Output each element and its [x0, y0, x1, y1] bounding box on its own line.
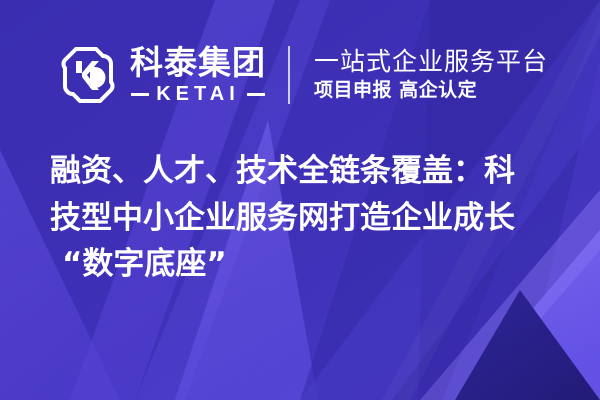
brand-name-cn: 科泰集团: [130, 46, 266, 79]
tagline-block: 一站式企业服务平台 项目申报 高企认定: [314, 48, 548, 103]
headline-line-3: “数字底座”: [50, 241, 566, 288]
tagline-secondary: 项目申报 高企认定: [314, 79, 548, 103]
header-vertical-divider: [288, 46, 290, 104]
banner-header: 科泰集团 KETAI 一站式企业服务平台 项目申报 高企认定: [56, 40, 548, 110]
headline-line-1: 融资、人才、技术全链条覆盖：科: [50, 148, 566, 195]
headline-line-2: 技型中小企业服务网打造企业成长: [50, 195, 566, 242]
tagline-primary: 一站式企业服务平台: [314, 48, 548, 76]
brand-rule-right: [247, 93, 265, 96]
headline: 融资、人才、技术全链条覆盖：科 技型中小企业服务网打造企业成长 “数字底座”: [50, 148, 566, 288]
brand-wordmark: 科泰集团 KETAI: [130, 46, 266, 104]
promo-banner: 科泰集团 KETAI 一站式企业服务平台 项目申报 高企认定 融资、人才、技术全…: [0, 0, 600, 400]
brand-latin-row: KETAI: [130, 84, 266, 104]
brand-name-latin: KETAI: [156, 84, 240, 104]
brand-rule-left: [131, 93, 149, 96]
ketai-diamond-kd-logo-icon: [56, 43, 120, 107]
